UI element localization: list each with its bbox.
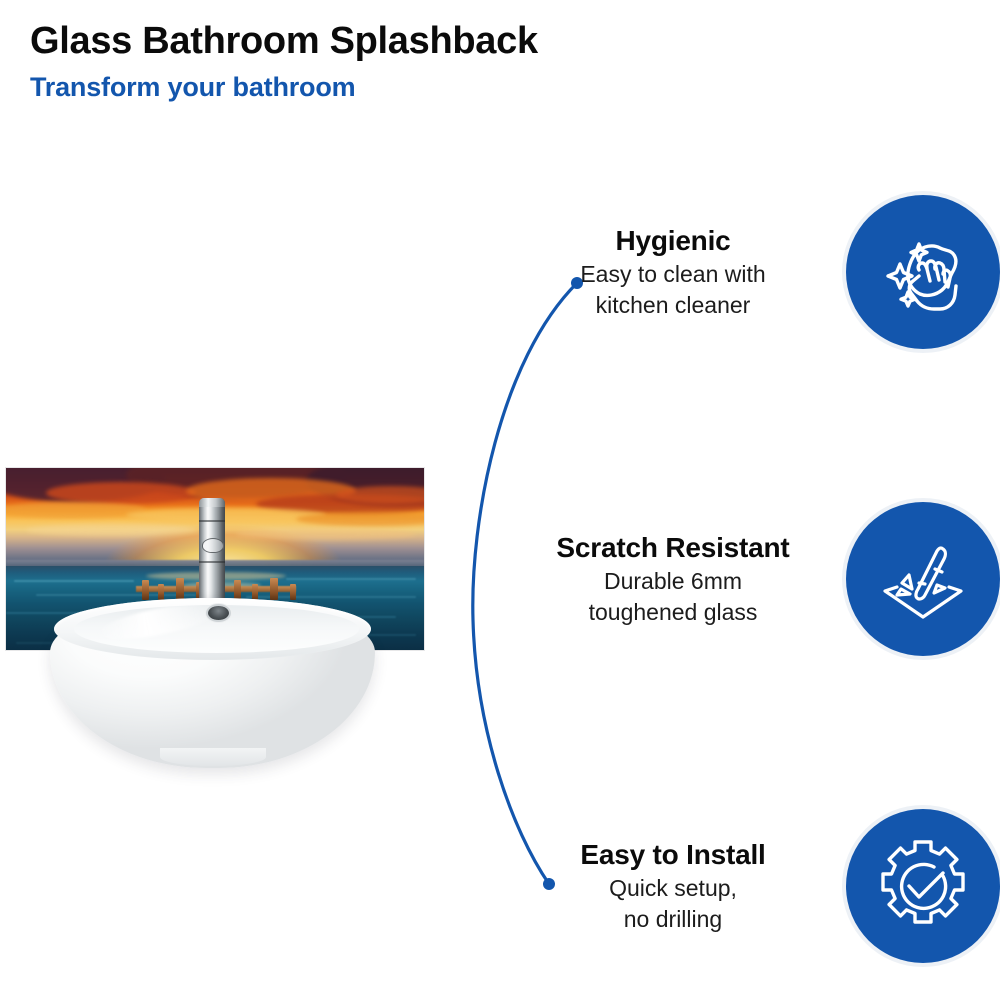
jetty-post: [270, 578, 278, 600]
basin-tap: [196, 498, 228, 614]
wave-line: [286, 578, 416, 580]
cloud: [46, 482, 196, 504]
feature-icon-badge: [846, 502, 1000, 656]
feature-title: Hygienic: [520, 224, 826, 258]
feature-row-easy-to-install: Easy to Install Quick setup, no drilling: [520, 806, 1000, 966]
feature-description-line: Durable 6mm: [520, 566, 826, 596]
feature-description: Durable 6mm toughened glass: [520, 566, 826, 627]
tap-head: [199, 498, 225, 507]
gear-checkmark-icon: [871, 834, 975, 938]
infographic-page: Glass Bathroom Splashback Transform your…: [0, 0, 1000, 1000]
feature-description-line: no drilling: [520, 904, 826, 934]
basin-drain: [208, 606, 229, 620]
basin-foot: [160, 748, 266, 766]
feature-text-block: Easy to Install Quick setup, no drilling: [520, 838, 830, 934]
tap-body: [199, 498, 225, 614]
knife-scratching-surface-icon: [873, 529, 973, 629]
cloud: [236, 528, 416, 540]
tap-seam: [199, 561, 225, 563]
header: Glass Bathroom Splashback Transform your…: [30, 20, 790, 103]
feature-row-hygienic: Hygienic Easy to clean with kitchen clea…: [520, 192, 1000, 352]
feature-text-block: Hygienic Easy to clean with kitchen clea…: [520, 224, 830, 320]
jetty-post: [234, 580, 241, 600]
feature-description-line: Easy to clean with: [520, 259, 826, 289]
feature-description-line: toughened glass: [520, 597, 826, 627]
feature-text-block: Scratch Resistant Durable 6mm toughened …: [520, 531, 830, 627]
vessel-basin: [50, 598, 375, 768]
wave-line: [36, 594, 196, 596]
feature-description: Quick setup, no drilling: [520, 873, 826, 934]
feature-title: Easy to Install: [520, 838, 826, 872]
feature-description-line: Quick setup,: [520, 873, 826, 903]
feature-title: Scratch Resistant: [520, 531, 826, 565]
jetty-post: [176, 578, 184, 600]
basin-rim: [54, 598, 371, 660]
feature-icon-badge: [846, 195, 1000, 349]
feature-description-line: kitchen cleaner: [520, 290, 826, 320]
jetty-post: [142, 580, 149, 600]
page-subtitle: Transform your bathroom: [30, 71, 790, 103]
tap-seam: [199, 520, 225, 522]
page-title: Glass Bathroom Splashback: [30, 20, 790, 63]
hand-wiping-sparkle-icon: [875, 224, 971, 320]
feature-icon-badge: [846, 809, 1000, 963]
tap-lever: [202, 538, 224, 553]
feature-description: Easy to clean with kitchen cleaner: [520, 259, 826, 320]
feature-row-scratch-resistant: Scratch Resistant Durable 6mm toughened …: [520, 499, 1000, 659]
cloud: [26, 524, 196, 536]
wave-line: [14, 580, 134, 582]
